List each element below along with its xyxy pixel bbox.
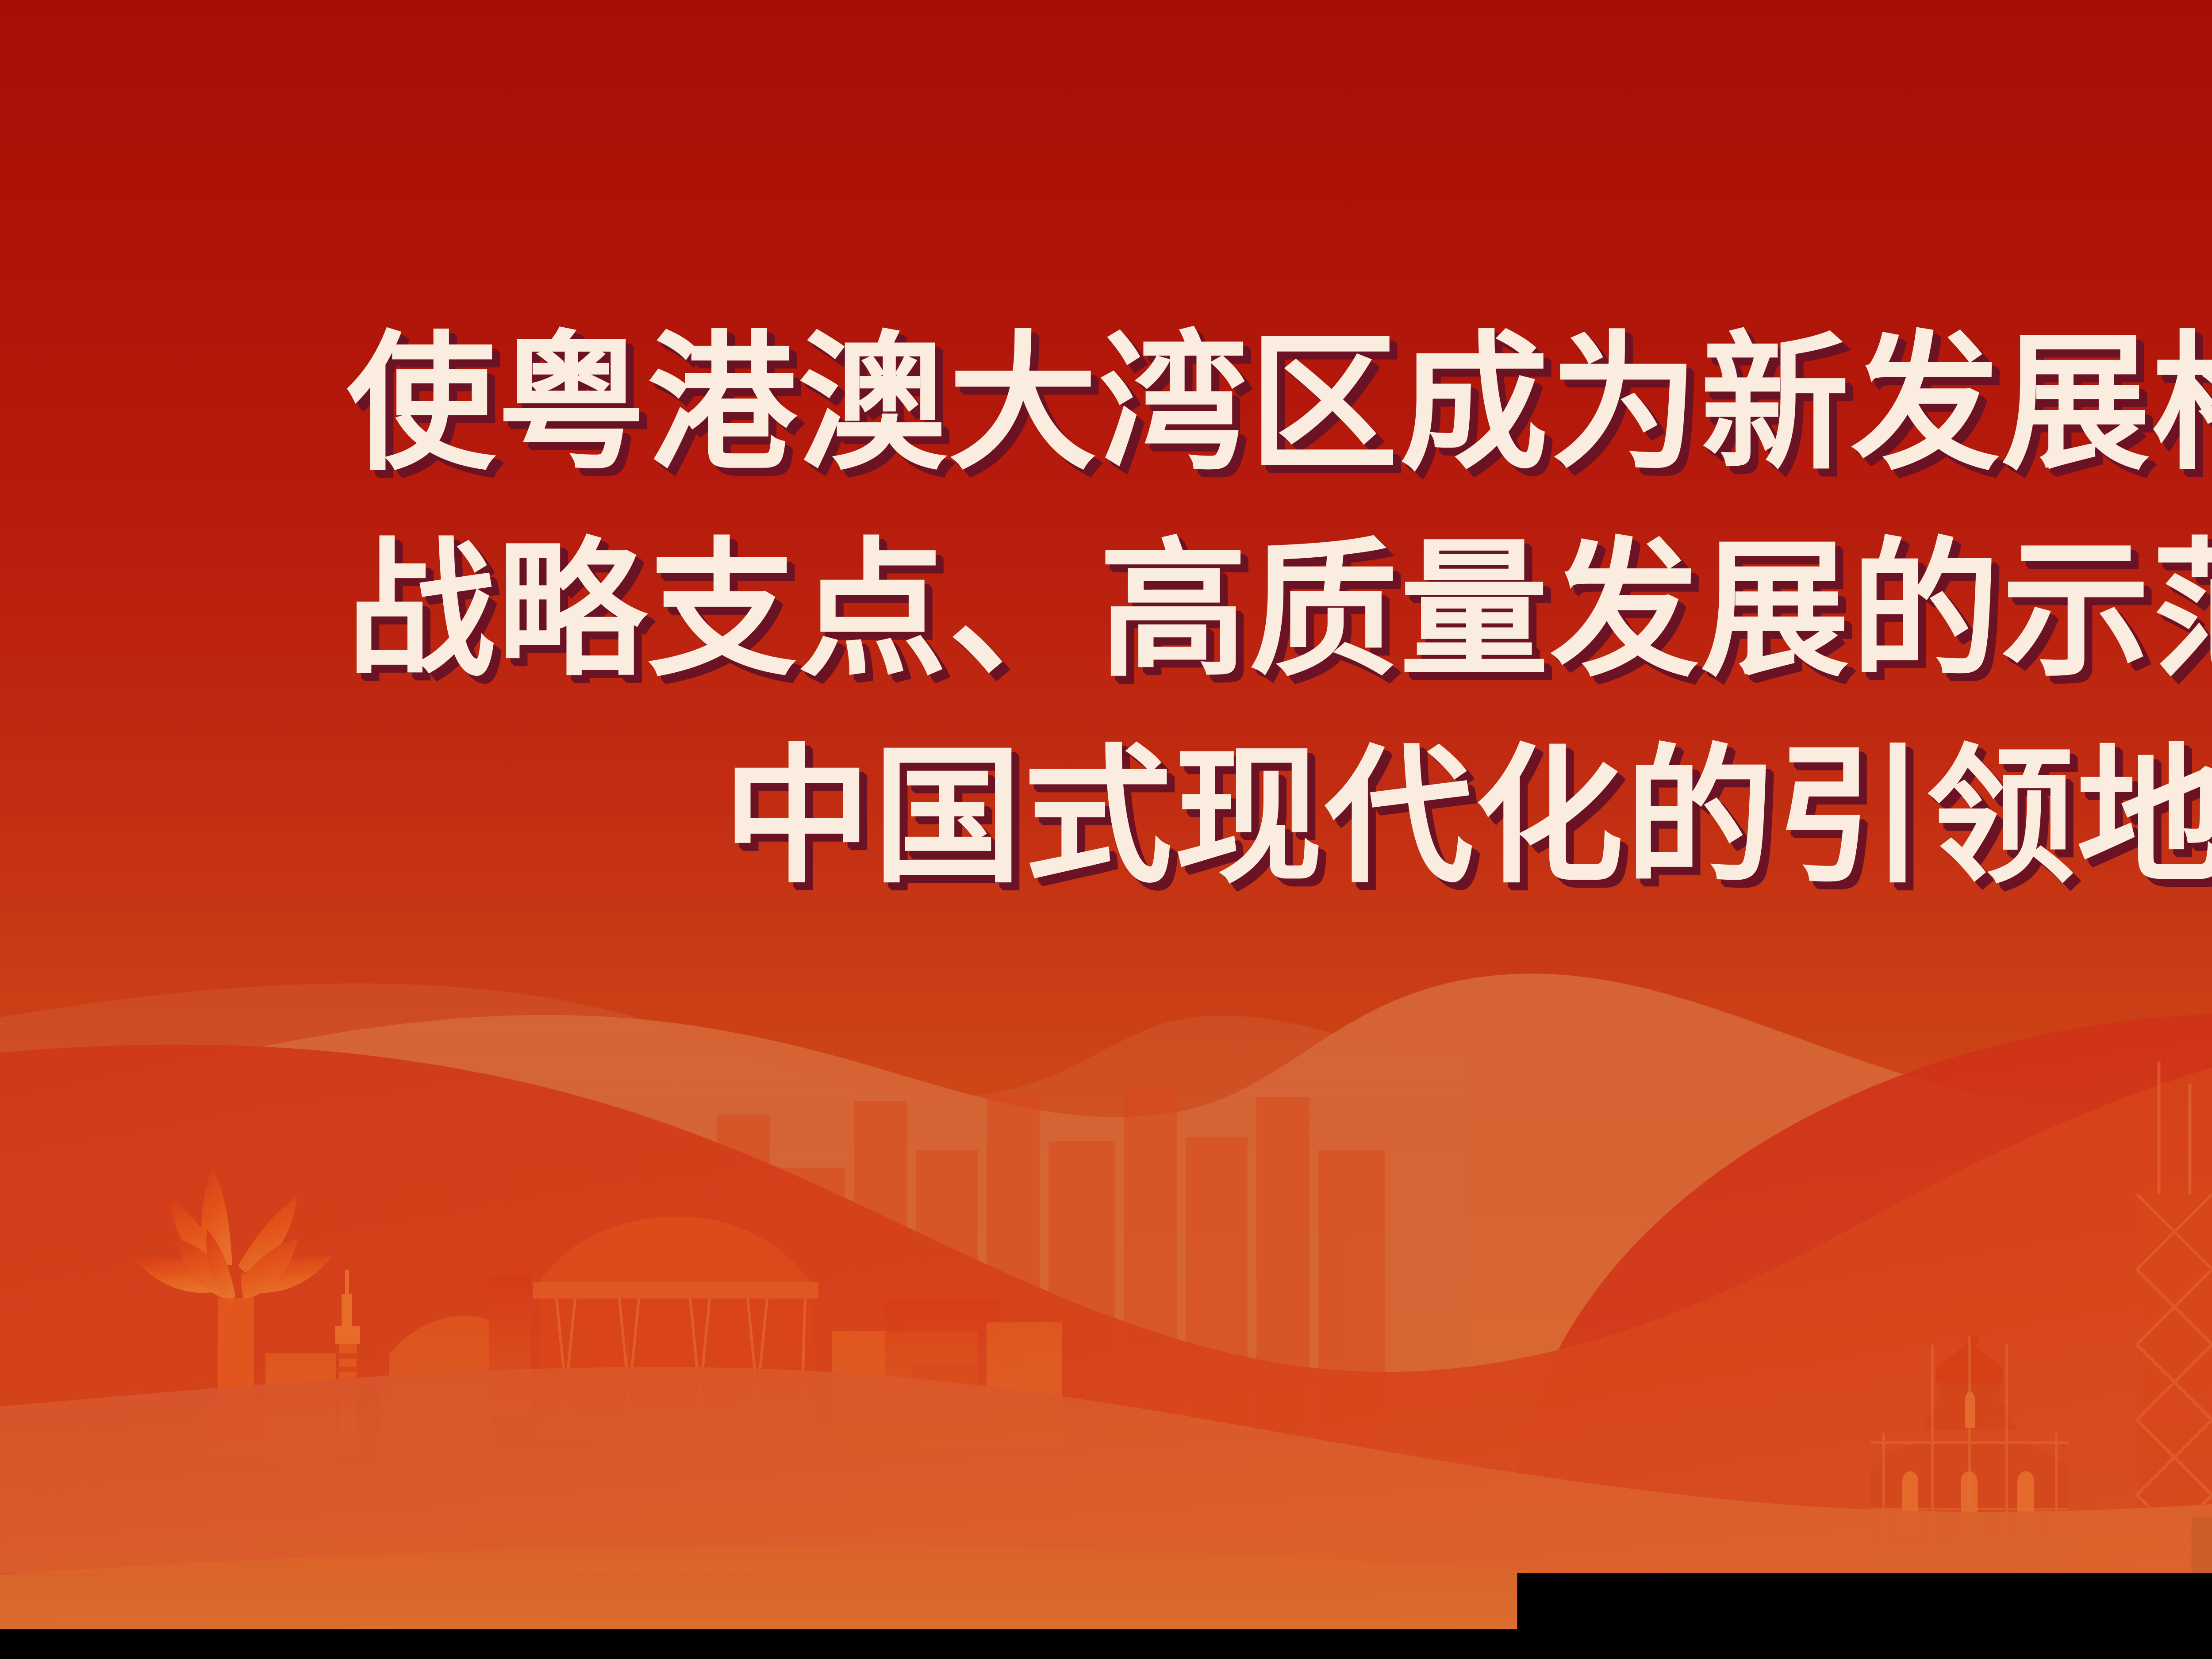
headline-line-3: 中国式现代化的引领地 xyxy=(0,714,2212,920)
golden-bauhinia-statue xyxy=(133,1168,332,1455)
headline-block: 使粤港澳大湾区成为新发展格局的 战略支点、高质量发展的示范地、 中国式现代化的引… xyxy=(0,301,2212,920)
low-rise-block xyxy=(265,1353,491,1464)
headline-line-2: 战略支点、高质量发展的示范地、 xyxy=(0,507,2212,714)
clock-tower xyxy=(335,1270,360,1455)
headline-line-1: 使粤港澳大湾区成为新发展格局的 xyxy=(0,301,2212,507)
ruins-of-st-pauls xyxy=(1870,1335,2069,1601)
hong-kong-convention-centre xyxy=(533,1217,818,1440)
government-block xyxy=(389,1274,531,1415)
poster-canvas: 使粤港澳大湾区成为新发展格局的 战略支点、高质量发展的示范地、 中国式现代化的引… xyxy=(0,0,2212,1659)
bank-of-china-spire xyxy=(2159,1061,2190,1194)
bank-of-china-tower xyxy=(2137,1168,2212,1601)
